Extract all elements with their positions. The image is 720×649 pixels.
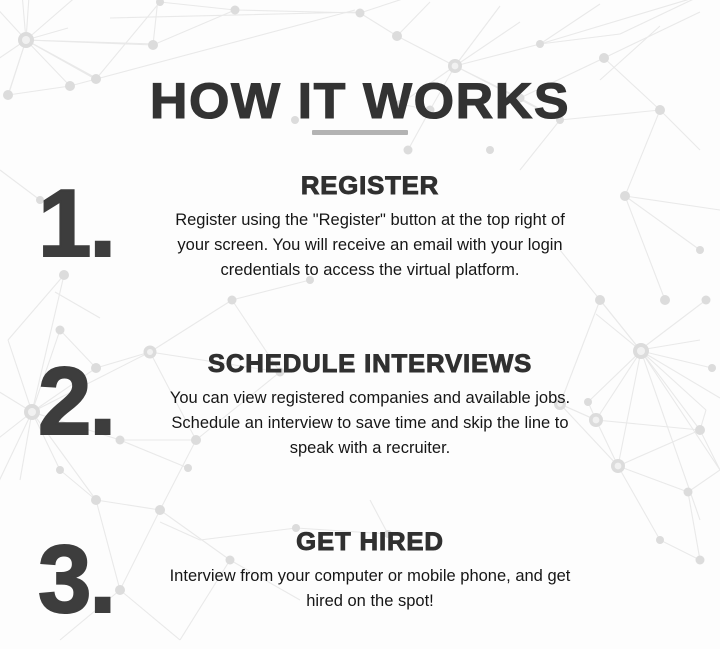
step-text-schedule-interviews: You can view registered companies and av… <box>165 386 575 461</box>
step-number-1: 1. <box>38 176 114 272</box>
step-body-2: SCHEDULE INTERVIEWS You can view registe… <box>165 350 575 461</box>
step-text-register: Register using the "Register" button at … <box>165 208 575 283</box>
step-body-1: REGISTER Register using the "Register" b… <box>165 172 575 283</box>
step-text-get-hired: Interview from your computer or mobile p… <box>165 564 575 614</box>
page-title: HOW IT WORKS <box>0 74 720 128</box>
step-number-2: 2. <box>38 354 114 450</box>
step-heading-register: REGISTER <box>159 172 581 200</box>
step-heading-schedule-interviews: SCHEDULE INTERVIEWS <box>159 350 581 378</box>
step-heading-get-hired: GET HIRED <box>159 528 581 556</box>
poster-content: HOW IT WORKS 1. REGISTER Register using … <box>0 0 720 649</box>
step-number-3: 3. <box>38 532 114 628</box>
step-body-3: GET HIRED Interview from your computer o… <box>165 528 575 614</box>
how-it-works-poster: HOW IT WORKS 1. REGISTER Register using … <box>0 0 720 649</box>
title-divider <box>312 130 408 135</box>
